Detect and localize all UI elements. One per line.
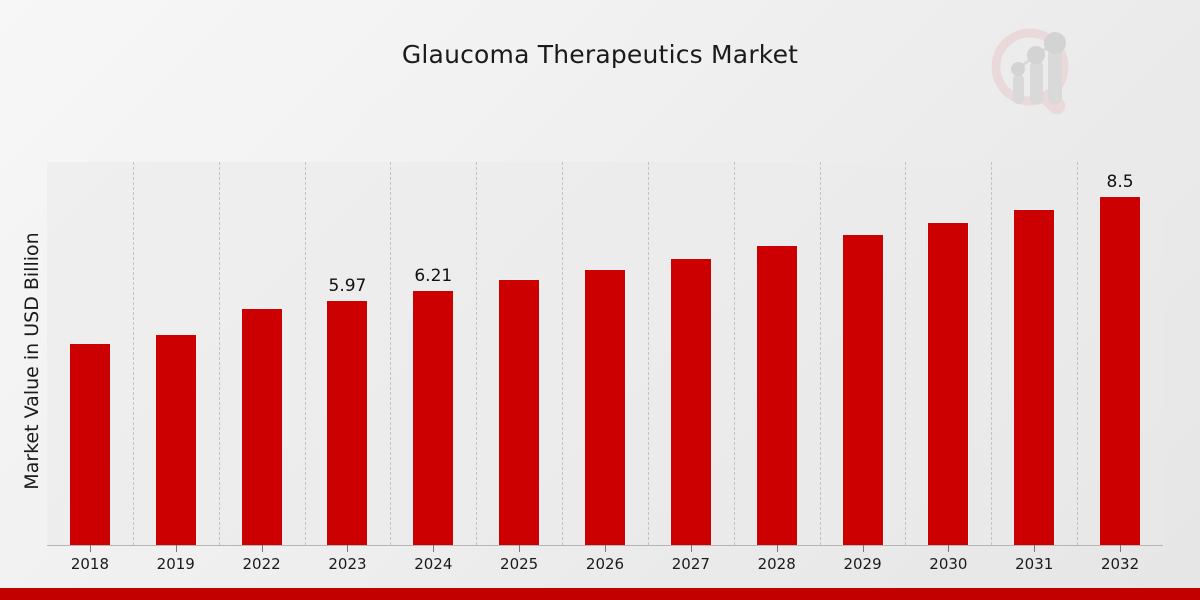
x-tick-2028 (777, 545, 778, 552)
x-tick-label-2019: 2019 (136, 555, 216, 573)
x-tick-2029 (863, 545, 864, 552)
bar-2024[interactable] (412, 290, 454, 545)
x-tick-label-2025: 2025 (479, 555, 559, 573)
x-tick-2022 (262, 545, 263, 552)
x-tick-label-2022: 2022 (222, 555, 302, 573)
bar-value-label-2032: 8.5 (1080, 172, 1160, 192)
bar-2018[interactable] (69, 343, 111, 545)
x-tick-2025 (519, 545, 520, 552)
x-tick-label-2029: 2029 (823, 555, 903, 573)
x-tick-label-2027: 2027 (651, 555, 731, 573)
x-tick-label-2031: 2031 (994, 555, 1074, 573)
bar-2032[interactable] (1099, 196, 1141, 545)
y-axis-title: Market Value in USD Billion (21, 161, 43, 561)
bar-2031[interactable] (1013, 209, 1055, 545)
x-tick-2023 (347, 545, 348, 552)
x-tick-2026 (605, 545, 606, 552)
x-tick-2027 (691, 545, 692, 552)
x-tick-label-2026: 2026 (565, 555, 645, 573)
x-tick-label-2028: 2028 (737, 555, 817, 573)
bar-2022[interactable] (241, 308, 283, 545)
x-tick-2018 (90, 545, 91, 552)
bar-2030[interactable] (927, 222, 969, 545)
bar-2027[interactable] (670, 258, 712, 545)
bar-2029[interactable] (842, 234, 884, 545)
bar-2026[interactable] (584, 269, 626, 545)
x-tick-label-2023: 2023 (307, 555, 387, 573)
x-tick-2032 (1120, 545, 1121, 552)
bar-value-label-2023: 5.97 (307, 276, 387, 296)
x-axis: 2018201920222023202420252026202720282029… (47, 545, 1163, 585)
market-research-magnifier-logo (985, 22, 1085, 122)
plot-area: 5.976.218.5 (47, 162, 1163, 546)
bar-2025[interactable] (498, 279, 540, 545)
x-tick-label-2030: 2030 (908, 555, 988, 573)
x-tick-2031 (1034, 545, 1035, 552)
x-tick-2030 (948, 545, 949, 552)
footer-accent-bar (0, 588, 1200, 600)
bars-layer: 5.976.218.5 (47, 162, 1163, 545)
x-tick-2019 (176, 545, 177, 552)
bar-value-label-2024: 6.21 (393, 266, 473, 286)
x-tick-2024 (433, 545, 434, 552)
x-tick-label-2018: 2018 (50, 555, 130, 573)
bar-2023[interactable] (326, 300, 368, 545)
bar-2019[interactable] (155, 334, 197, 545)
bar-2028[interactable] (756, 245, 798, 545)
x-tick-label-2032: 2032 (1080, 555, 1160, 573)
x-tick-label-2024: 2024 (393, 555, 473, 573)
chart-page: Glaucoma Therapeutics Market Market Valu… (0, 0, 1200, 600)
chart-title: Glaucoma Therapeutics Market (0, 40, 1200, 69)
